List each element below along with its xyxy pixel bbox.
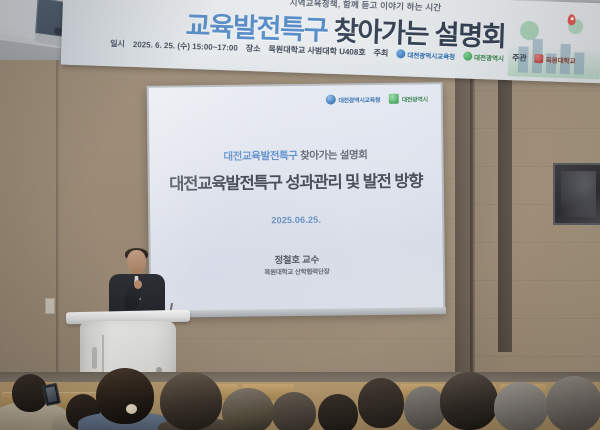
audience-member <box>96 368 154 424</box>
education-office-logo-icon <box>326 95 336 105</box>
presenter-hand <box>134 280 142 289</box>
audience-member <box>440 372 498 430</box>
banner-date-label: 일시 <box>110 38 125 50</box>
presentation-photo-scene: 지역교육정책, 함께 듣고 이야기 하는 시간 교육발전특구 찾아가는 설명회 … <box>0 0 600 430</box>
hair-tie <box>126 404 137 414</box>
audience-member <box>546 376 600 430</box>
slide-eyebrow-highlight: 대전교육발전특구 <box>223 150 297 163</box>
banner-organizer-org: 목원대학교 <box>535 54 576 65</box>
banner-place-value: 목원대학교 사범대학 U408호 <box>268 44 365 58</box>
wall-mounted-monitor[interactable] <box>553 163 600 225</box>
banner-place-label: 장소 <box>246 43 261 55</box>
presentation-slide: 대전광역시교육청 대전광역시 대전교육발전특구 찾아가는 설명회 대전교육발전특… <box>149 84 444 315</box>
slide-logo-group: 대전광역시교육청 대전광역시 <box>326 93 428 104</box>
lectern-slot <box>92 347 97 369</box>
university-logo-icon <box>535 54 544 63</box>
audience-member <box>358 378 404 428</box>
wall-seam <box>470 52 475 382</box>
education-office-logo-icon <box>396 49 405 58</box>
banner-date-value: 2025. 6. 25. (수) 15:00~17:00 <box>133 39 238 54</box>
curtain <box>498 52 512 352</box>
projection-screen: 대전광역시교육청 대전광역시 대전교육발전특구 찾아가는 설명회 대전교육발전특… <box>147 82 446 317</box>
wall-seam <box>56 60 59 390</box>
wall-outlet <box>45 298 55 314</box>
slide-eyebrow-rest: 찾아가는 설명회 <box>300 149 367 162</box>
banner-host-org-2-label: 대전광역시 <box>474 51 504 62</box>
banner-host-org-2: 대전광역시 <box>463 51 504 62</box>
city-logo-icon <box>389 94 399 104</box>
city-logo-icon <box>463 52 472 61</box>
slide-title: 대전교육발전특구 성과관리 및 발전 방향 <box>150 167 442 195</box>
audience-member <box>494 382 548 430</box>
slide-logo-city-label: 대전광역시 <box>402 94 428 103</box>
banner-host-org-1-label: 대전광역시교육청 <box>407 49 455 61</box>
audience-member <box>318 394 358 430</box>
banner-title-highlight: 교육발전특구 <box>185 11 328 46</box>
audience-member <box>222 388 274 430</box>
banner-host-org-1: 대전광역시교육청 <box>396 49 455 61</box>
slide-logo-education-office: 대전광역시교육청 <box>326 94 380 105</box>
slide-logo-education-office-label: 대전광역시교육청 <box>338 94 380 104</box>
banner-organizer-org-label: 목원대학교 <box>546 54 576 65</box>
banner-host-label: 주최 <box>373 47 388 59</box>
banner-organizer-label: 주관 <box>512 52 527 64</box>
audience-member <box>272 392 316 430</box>
slide-logo-city: 대전광역시 <box>389 93 428 103</box>
audience-member <box>160 372 222 430</box>
